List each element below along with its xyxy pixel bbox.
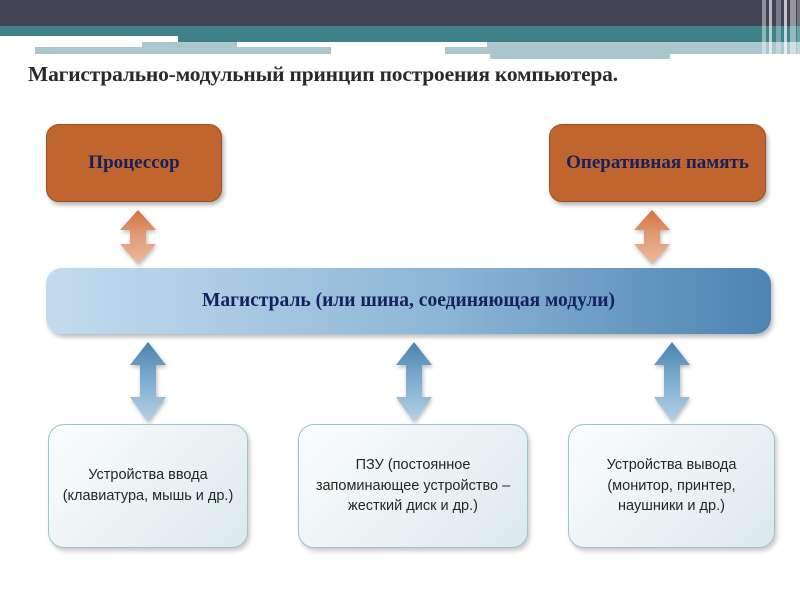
header-vstripe-1 <box>762 0 766 62</box>
header-band-pale-3 <box>490 54 670 59</box>
double-arrow-icon-bus-output <box>650 340 694 424</box>
header-band-dark <box>0 0 800 26</box>
double-arrow-icon-processor-bus <box>116 208 160 266</box>
slide-title: Магистрально-модульный принцип построени… <box>28 62 772 87</box>
module-box-rom[interactable]: ПЗУ (постоянное запоминающее устройство … <box>298 424 528 548</box>
header-gap-3 <box>331 47 445 54</box>
bus-bar[interactable]: Магистраль (или шина, соединяющая модули… <box>46 268 771 334</box>
module-box-output-devices[interactable]: Устройства вывода (монитор, принтер, нау… <box>568 424 775 548</box>
header-vstripe-2 <box>769 0 772 62</box>
header-decoration <box>0 0 800 62</box>
header-vstripe-4 <box>784 0 787 62</box>
double-arrow-icon-bus-rom <box>392 340 436 424</box>
header-vstripe-3 <box>776 0 781 62</box>
header-vstripe-5 <box>790 0 796 62</box>
double-arrow-icon-ram-bus <box>630 208 674 266</box>
module-box-input-devices[interactable]: Устройства ввода (клавиатура, мышь и др.… <box>48 424 248 548</box>
double-arrow-icon-bus-input <box>126 340 170 424</box>
module-box-ram[interactable]: Оперативная память <box>549 124 766 202</box>
module-box-processor[interactable]: Процессор <box>46 124 222 202</box>
header-band-teal <box>0 26 800 36</box>
